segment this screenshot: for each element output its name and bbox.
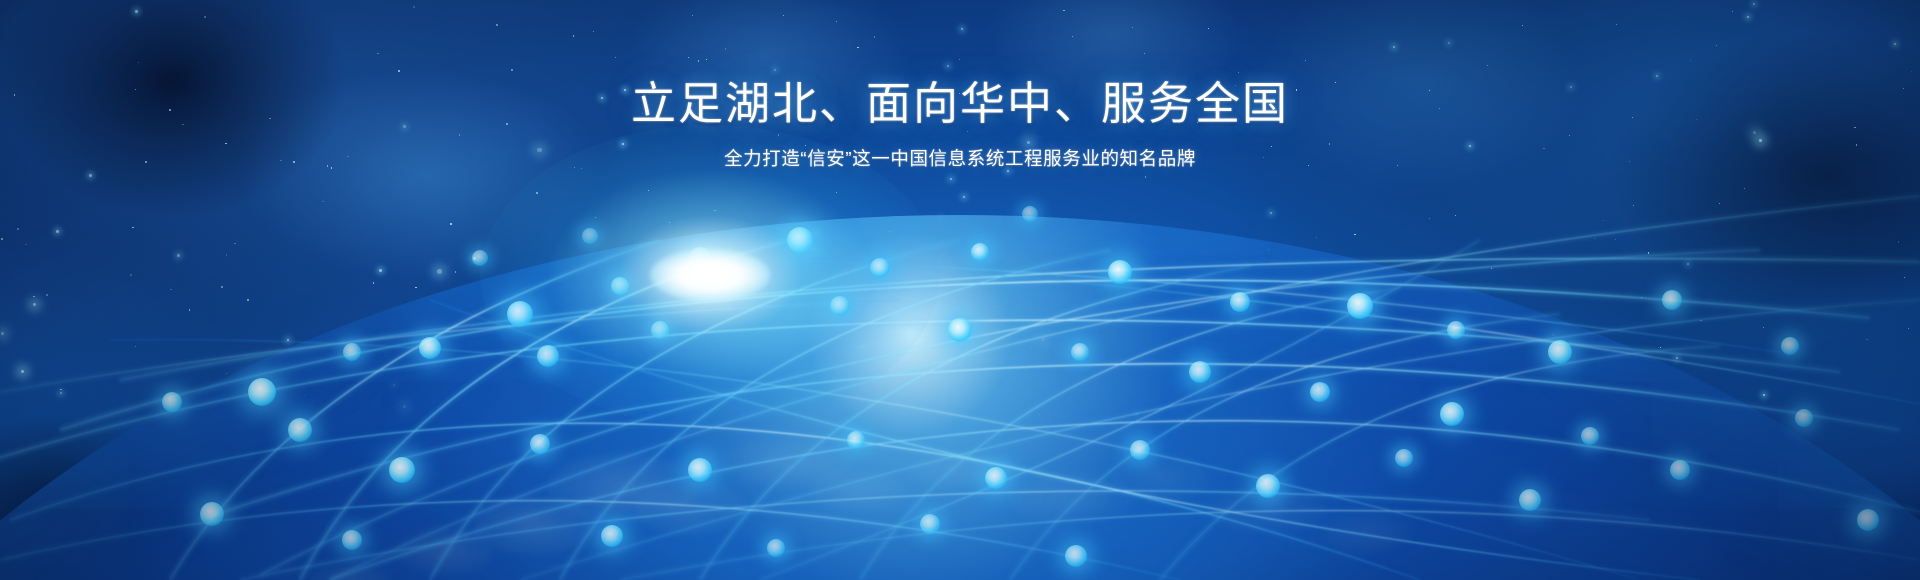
hero-banner: 立足湖北、面向华中、服务全国 全力打造“信安”这一中国信息系统工程服务业的知名品… xyxy=(0,0,1920,580)
banner-headline: 立足湖北、面向华中、服务全国 xyxy=(0,78,1920,129)
banner-subheadline: 全力打造“信安”这一中国信息系统工程服务业的知名品牌 xyxy=(0,147,1920,171)
banner-copy: 立足湖北、面向华中、服务全国 全力打造“信安”这一中国信息系统工程服务业的知名品… xyxy=(0,78,1920,171)
